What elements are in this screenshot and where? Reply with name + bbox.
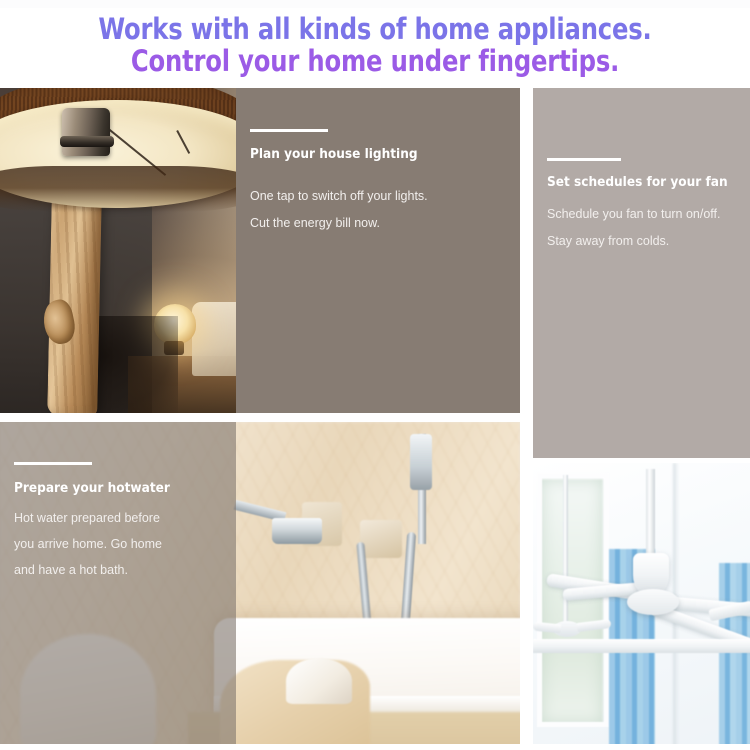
lamp-photo	[0, 88, 236, 413]
panel-lighting-body-line-2: Cut the energy bill now.	[250, 211, 380, 235]
panel-hotwater-body-line-2: you arrive home. Go home	[14, 532, 162, 556]
lamp-photo-socket	[62, 108, 110, 156]
panel-hotwater-body-line-1: Hot water prepared before	[14, 506, 160, 530]
panel-fan-rule	[547, 158, 621, 161]
lamp-photo-shade-lip	[0, 166, 236, 212]
panel-fan-title: Set schedules for your fan	[547, 174, 728, 190]
bottom-strip	[0, 744, 750, 750]
panel-lighting-rule	[250, 129, 328, 132]
ceiling-fan-photo-second-fan-rod	[563, 475, 568, 623]
bathroom-photo-towel-fold	[286, 658, 352, 704]
panel-fan-body-line-1: Schedule you fan to turn on/off.	[547, 202, 721, 226]
lamp-photo-socket-ring	[60, 136, 114, 147]
ceiling-fan-photo-hub	[627, 589, 679, 615]
headline-line-2: Control your home under fingertips.	[26, 46, 724, 76]
headline-line-1: Works with all kinds of home appliances.	[26, 14, 724, 44]
panel-lighting-body-line-1: One tap to switch off your lights.	[250, 184, 428, 208]
bathroom-photo-shower-head	[410, 434, 432, 490]
ceiling-fan-photo	[533, 463, 750, 750]
panel-hotwater-rule	[14, 462, 92, 465]
headline: Works with all kinds of home appliances.…	[0, 14, 750, 76]
bathroom-photo-faucet-spout	[272, 518, 322, 544]
top-band	[0, 0, 750, 8]
ceiling-fan-photo-downrod	[646, 469, 655, 555]
panel-lighting: Plan your house lighting One tap to swit…	[236, 88, 520, 413]
panel-hotwater-title: Prepare your hotwater	[14, 480, 170, 496]
panel-fan: Set schedules for your fan Schedule you …	[533, 88, 750, 458]
lamp-photo-sofa	[192, 302, 236, 376]
panel-hotwater: Prepare your hotwater Hot water prepared…	[0, 422, 236, 750]
panel-fan-body-line-2: Stay away from colds.	[547, 229, 669, 253]
promo-page: Works with all kinds of home appliances.…	[0, 0, 750, 750]
bathroom-photo-valve-right	[360, 520, 402, 558]
ceiling-fan-photo-beam	[533, 639, 750, 653]
panel-lighting-title: Plan your house lighting	[250, 146, 418, 162]
ceiling-fan-photo-curtain-right	[719, 563, 750, 750]
panel-hotwater-body-line-3: and have a hot bath.	[14, 558, 128, 582]
